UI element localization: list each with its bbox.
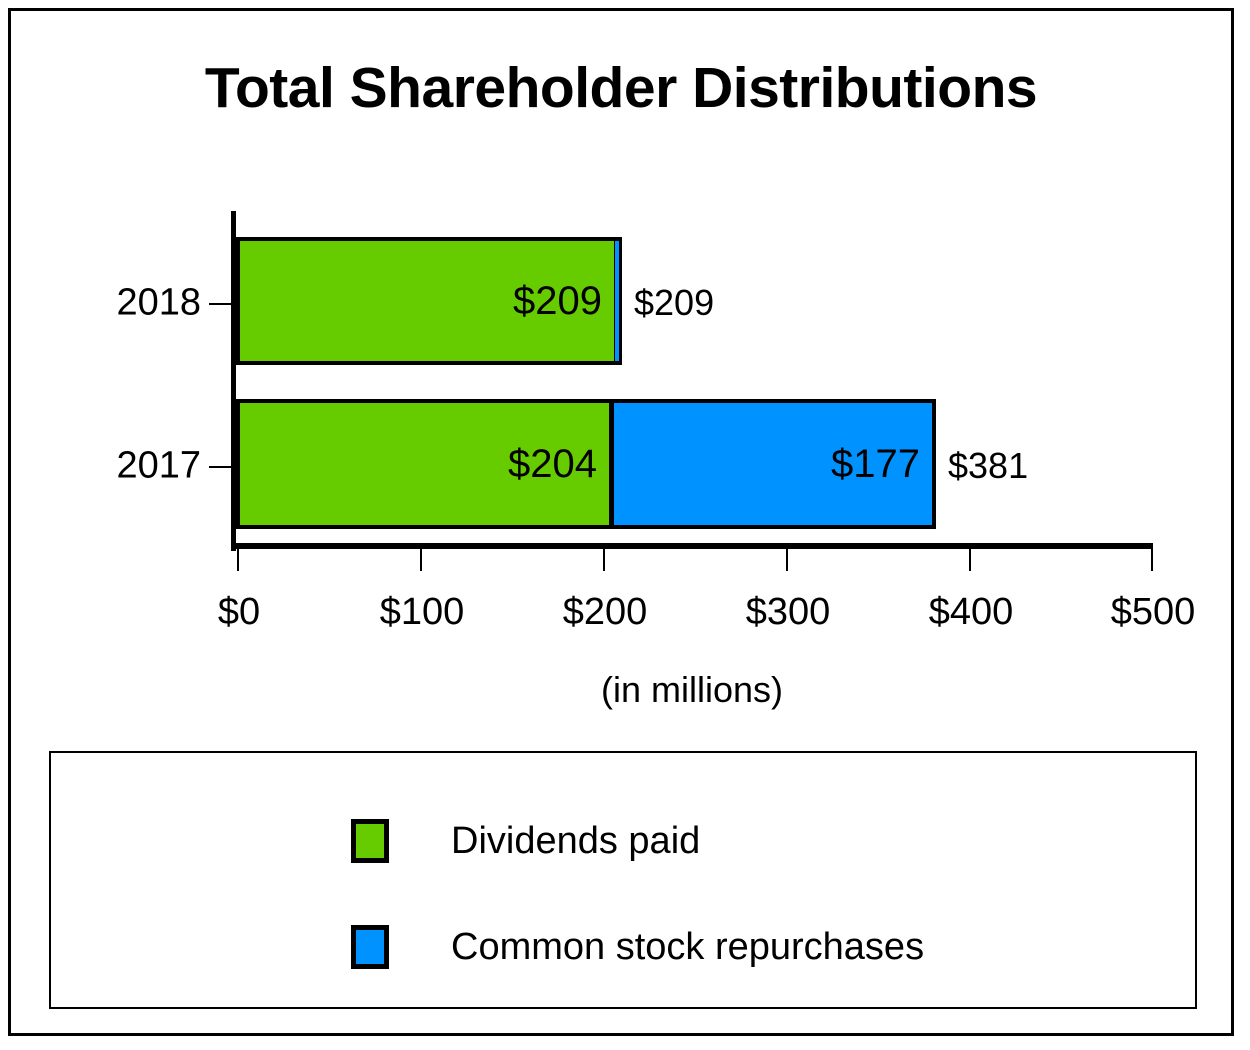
- x-axis-tick-label: $200: [525, 591, 685, 634]
- bar-row-2017: $204 $177: [236, 399, 936, 529]
- y-tick-2017: [209, 466, 235, 468]
- x-tick-300: [786, 549, 788, 571]
- legend-item-label: Common stock repurchases: [451, 926, 924, 969]
- legend-item-label: Dividends paid: [451, 820, 700, 863]
- bar-segment-value-label: $209: [513, 279, 614, 324]
- x-axis-title: (in millions): [231, 669, 1153, 711]
- bar-segment-dividends-2017[interactable]: $204: [236, 399, 613, 529]
- bar-segment-value-label: $177: [831, 442, 932, 487]
- x-tick-200: [603, 549, 605, 571]
- legend-item-dividends[interactable]: Dividends paid: [351, 819, 700, 863]
- legend-swatch-green-icon: [351, 819, 389, 863]
- x-axis-tick-label: $500: [1073, 591, 1233, 634]
- x-tick-400: [969, 549, 971, 571]
- bar-segment-dividends-2018[interactable]: $209: [236, 237, 618, 365]
- category-label-2017: 2017: [41, 445, 201, 488]
- legend-box: Dividends paid Common stock repurchases: [49, 751, 1197, 1009]
- legend-swatch-blue-icon: [351, 925, 389, 969]
- x-axis-tick-label: $0: [159, 591, 319, 634]
- chart-frame: Total Shareholder Distributions $0 $100 …: [8, 8, 1234, 1036]
- x-axis-tick-label: $400: [891, 591, 1051, 634]
- bar-row-2018: $209: [236, 237, 622, 365]
- bar-segment-repurchases-2017[interactable]: $177: [610, 399, 936, 529]
- bar-total-label-2017: $381: [948, 445, 1028, 487]
- x-tick-100: [420, 549, 422, 571]
- x-tick-0: [237, 549, 239, 571]
- x-axis-tick-label: $300: [708, 591, 868, 634]
- category-label-2018: 2018: [41, 282, 201, 325]
- x-tick-500: [1151, 549, 1153, 571]
- x-axis-line: [231, 543, 1153, 549]
- x-axis-tick-label: $100: [342, 591, 502, 634]
- bar-segment-repurchases-2018[interactable]: [615, 237, 622, 365]
- y-tick-2018: [209, 303, 235, 305]
- legend-item-repurchases[interactable]: Common stock repurchases: [351, 925, 924, 969]
- bar-segment-value-label: $204: [508, 442, 609, 487]
- bar-total-label-2018: $209: [634, 282, 714, 324]
